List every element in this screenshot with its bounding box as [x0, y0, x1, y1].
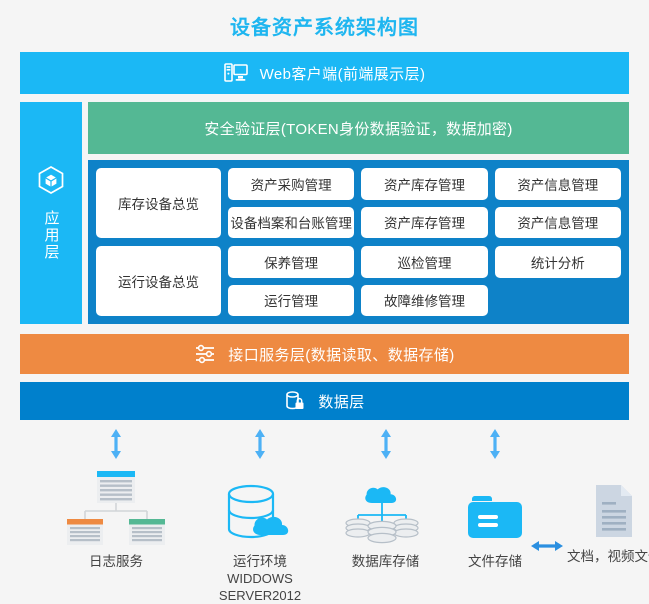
module-cell[interactable]: 巡检管理 [361, 246, 487, 278]
infra-item-database-storage: 数据库存储 [328, 428, 443, 570]
sidebar-label-application: 应用层 [42, 210, 61, 261]
log-hierarchy-icon [61, 471, 171, 545]
database-lock-icon [284, 390, 306, 412]
module-overview-running[interactable]: 运行设备总览 [96, 246, 221, 316]
infrastructure-row: 日志服务 运行环境 WIDDOWS SERVER2012 [20, 420, 629, 598]
infra-label-documents: 文档，视频文件 [567, 548, 649, 565]
double-arrow-vertical-icon [487, 428, 503, 465]
module-overview-inventory[interactable]: 库存设备总览 [96, 168, 221, 238]
double-arrow-vertical-icon [108, 428, 124, 465]
infra-item-log-service: 日志服务 [52, 428, 180, 570]
module-sub-row: 运行管理 故障维修管理 [228, 285, 621, 317]
module-sub-row: 设备档案和台账管理 资产库存管理 资产信息管理 [228, 207, 621, 239]
security-layer-bar: 安全验证层(TOKEN身份数据验证，数据加密) [88, 102, 629, 154]
module-panel: 库存设备总览 资产采购管理 资产库存管理 资产信息管理 设备档案和台账管理 资产… [88, 160, 629, 324]
cloud-database-cluster-icon [339, 471, 433, 545]
module-cell[interactable]: 资产信息管理 [495, 207, 621, 239]
web-client-label: Web客户端(前端展示层) [260, 63, 426, 84]
module-cell-empty [495, 285, 621, 317]
interface-service-layer: 接口服务层(数据读取、数据存储) [20, 334, 629, 374]
double-arrow-vertical-icon [252, 428, 268, 465]
infra-label: 日志服务 [89, 553, 143, 570]
infra-label: 文件存储 [468, 553, 522, 570]
sliders-settings-icon [194, 343, 216, 365]
double-arrow-horizontal-icon [530, 538, 564, 559]
module-row: 库存设备总览 资产采购管理 资产库存管理 资产信息管理 设备档案和台账管理 资产… [96, 168, 621, 238]
web-client-layer: Web客户端(前端展示层) [20, 52, 629, 94]
module-cell[interactable]: 运行管理 [228, 285, 354, 317]
module-cell[interactable]: 资产库存管理 [361, 207, 487, 239]
double-arrow-vertical-icon [378, 428, 394, 465]
data-layer-label: 数据层 [318, 391, 364, 412]
infra-sublabel: WIDDOWS SERVER2012 [195, 570, 325, 604]
module-sub-row: 资产采购管理 资产库存管理 资产信息管理 [228, 168, 621, 200]
infra-item-documents: 文档，视频文件 [567, 428, 649, 565]
security-layer-label: 安全验证层(TOKEN身份数据验证，数据加密) [204, 118, 512, 139]
document-file-icon [591, 428, 637, 540]
module-cell[interactable]: 故障维修管理 [361, 285, 487, 317]
infra-item-runtime-environment: 运行环境 WIDDOWS SERVER2012 [195, 428, 325, 604]
desktop-computer-icon [224, 62, 248, 84]
module-cell[interactable]: 设备档案和台账管理 [228, 207, 354, 239]
data-layer-bar: 数据层 [20, 382, 629, 420]
infra-label: 运行环境 [233, 553, 287, 570]
module-subgrid: 保养管理 巡检管理 统计分析 运行管理 故障维修管理 [228, 246, 621, 316]
module-sub-row: 保养管理 巡检管理 统计分析 [228, 246, 621, 278]
application-layer: 应用层 安全验证层(TOKEN身份数据验证，数据加密) 库存设备总览 资产采购管… [20, 102, 629, 324]
application-layer-content: 安全验证层(TOKEN身份数据验证，数据加密) 库存设备总览 资产采购管理 资产… [88, 102, 629, 324]
module-cell[interactable]: 资产库存管理 [361, 168, 487, 200]
database-cloud-icon [221, 471, 299, 545]
module-cell[interactable]: 统计分析 [495, 246, 621, 278]
application-layer-sidebar: 应用层 [20, 102, 82, 324]
folder-icon [464, 471, 526, 545]
interface-service-label: 接口服务层(数据读取、数据存储) [228, 344, 454, 365]
module-cell[interactable]: 保养管理 [228, 246, 354, 278]
cube-icon [37, 165, 65, 200]
infra-label: 数据库存储 [352, 553, 420, 570]
module-subgrid: 资产采购管理 资产库存管理 资产信息管理 设备档案和台账管理 资产库存管理 资产… [228, 168, 621, 238]
page-title: 设备资产系统架构图 [0, 0, 649, 52]
module-cell[interactable]: 资产信息管理 [495, 168, 621, 200]
module-cell[interactable]: 资产采购管理 [228, 168, 354, 200]
module-row: 运行设备总览 保养管理 巡检管理 统计分析 运行管理 故障维修管理 [96, 246, 621, 316]
